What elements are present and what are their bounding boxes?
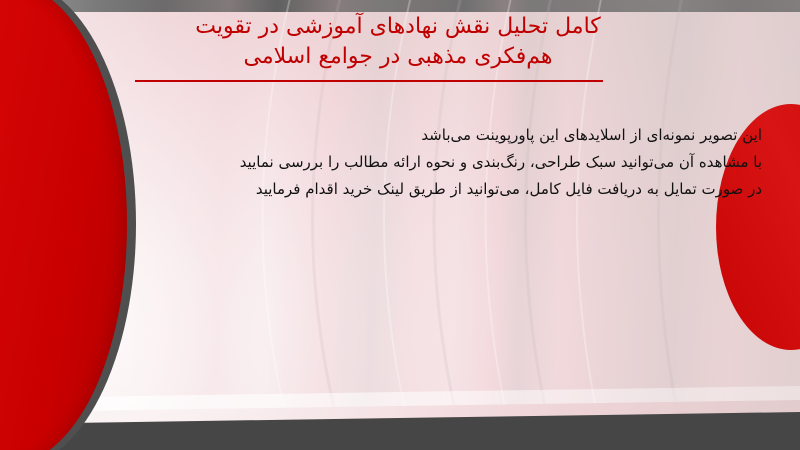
title-underline-rule xyxy=(135,80,603,82)
slide-title-line-2: هم‌فکری مذهبی در جوامع اسلامی xyxy=(48,42,748,72)
body-line-1: این تصویر نمونه‌ای از اسلایدهای این پاور… xyxy=(62,122,762,149)
slide-body-text: این تصویر نمونه‌ای از اسلایدهای این پاور… xyxy=(62,122,762,203)
slide-title: کامل تحلیل نقش نهادهای آموزشی در تقویت ه… xyxy=(48,12,748,72)
body-line-3: در صورت تمایل به دریافت فایل کامل، می‌تو… xyxy=(62,176,762,203)
presentation-slide: کامل تحلیل نقش نهادهای آموزشی در تقویت ه… xyxy=(0,0,800,450)
slide-content-plate xyxy=(0,12,800,424)
slide-title-line-1: کامل تحلیل نقش نهادهای آموزشی در تقویت xyxy=(48,12,748,42)
body-line-2: با مشاهده آن می‌توانید سبک طراحی، رنگ‌بن… xyxy=(62,149,762,176)
